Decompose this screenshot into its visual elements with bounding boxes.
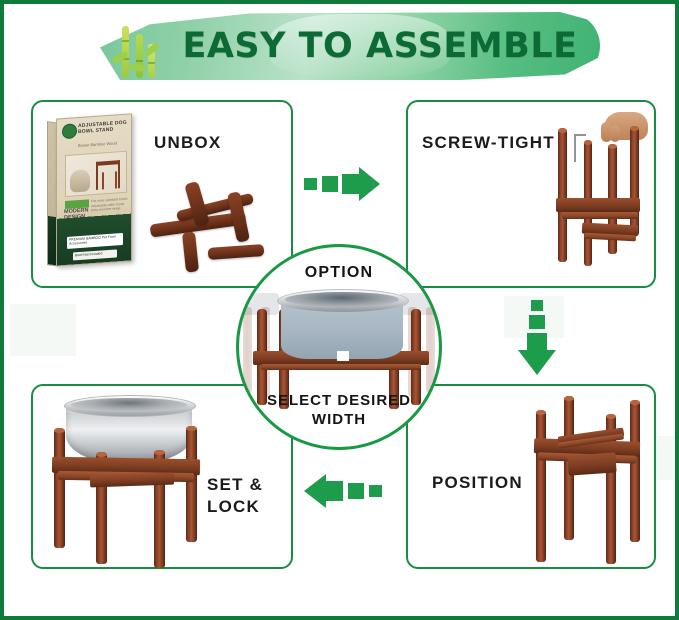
box-brand-label: PREMIUM BAMBOO Pet Food Accessories [67, 233, 123, 249]
arrow-left-icon [304, 474, 390, 508]
set-lock-artwork [44, 392, 214, 568]
option-bowl-interior [285, 292, 399, 307]
product-box-artwork: ADJUSTABLE DOG BOWL STAND Brown Bamboo W… [56, 113, 132, 266]
position-artwork [528, 392, 658, 568]
box-tagline-text: MODERN DESIGN [64, 207, 92, 221]
step-label-screw-tight: SCREW-TIGHT [422, 132, 555, 154]
box-subtitle-text: Brown Bamboo Wood [78, 139, 130, 148]
step-label-set-lock: SET & LOCK [207, 474, 263, 518]
allen-key-icon [574, 134, 576, 162]
arrow-down-icon [518, 300, 556, 378]
header-banner: EASY TO ASSEMBLE [100, 12, 600, 80]
background-tint-left [10, 304, 76, 356]
box-spec-text: Fits most standard bowls Adjustable widt… [91, 197, 129, 213]
box-footer-text: Bowl Not Included [73, 249, 117, 258]
center-option-circle[interactable]: OPTION SELECT DESIRED WIDTH [236, 244, 442, 450]
screw-tight-artwork [542, 112, 650, 278]
page-title: EASY TO ASSEMBLE [100, 22, 600, 70]
eco-badge-icon [62, 123, 77, 139]
step-label-position: POSITION [432, 472, 523, 494]
box-title-text: ADJUSTABLE DOG BOWL STAND [78, 119, 130, 135]
box-product-photo [65, 151, 127, 197]
infographic-page: EASY TO ASSEMBLE ADJUSTABLE DOG BOWL STA… [0, 0, 679, 620]
box-brand-text: PREMIUM BAMBOO Pet Food Accessories [67, 233, 123, 247]
arrow-right-icon [304, 167, 390, 201]
select-width-label: SELECT DESIRED WIDTH [239, 391, 439, 429]
box-front-face: ADJUSTABLE DOG BOWL STAND Brown Bamboo W… [56, 113, 132, 266]
bowl-interior [71, 398, 187, 412]
loose-wood-parts-artwork [144, 176, 274, 276]
box-footer-label: Bowl Not Included [73, 249, 117, 260]
option-label: OPTION [239, 264, 439, 282]
step-label-unbox: UNBOX [154, 132, 221, 154]
